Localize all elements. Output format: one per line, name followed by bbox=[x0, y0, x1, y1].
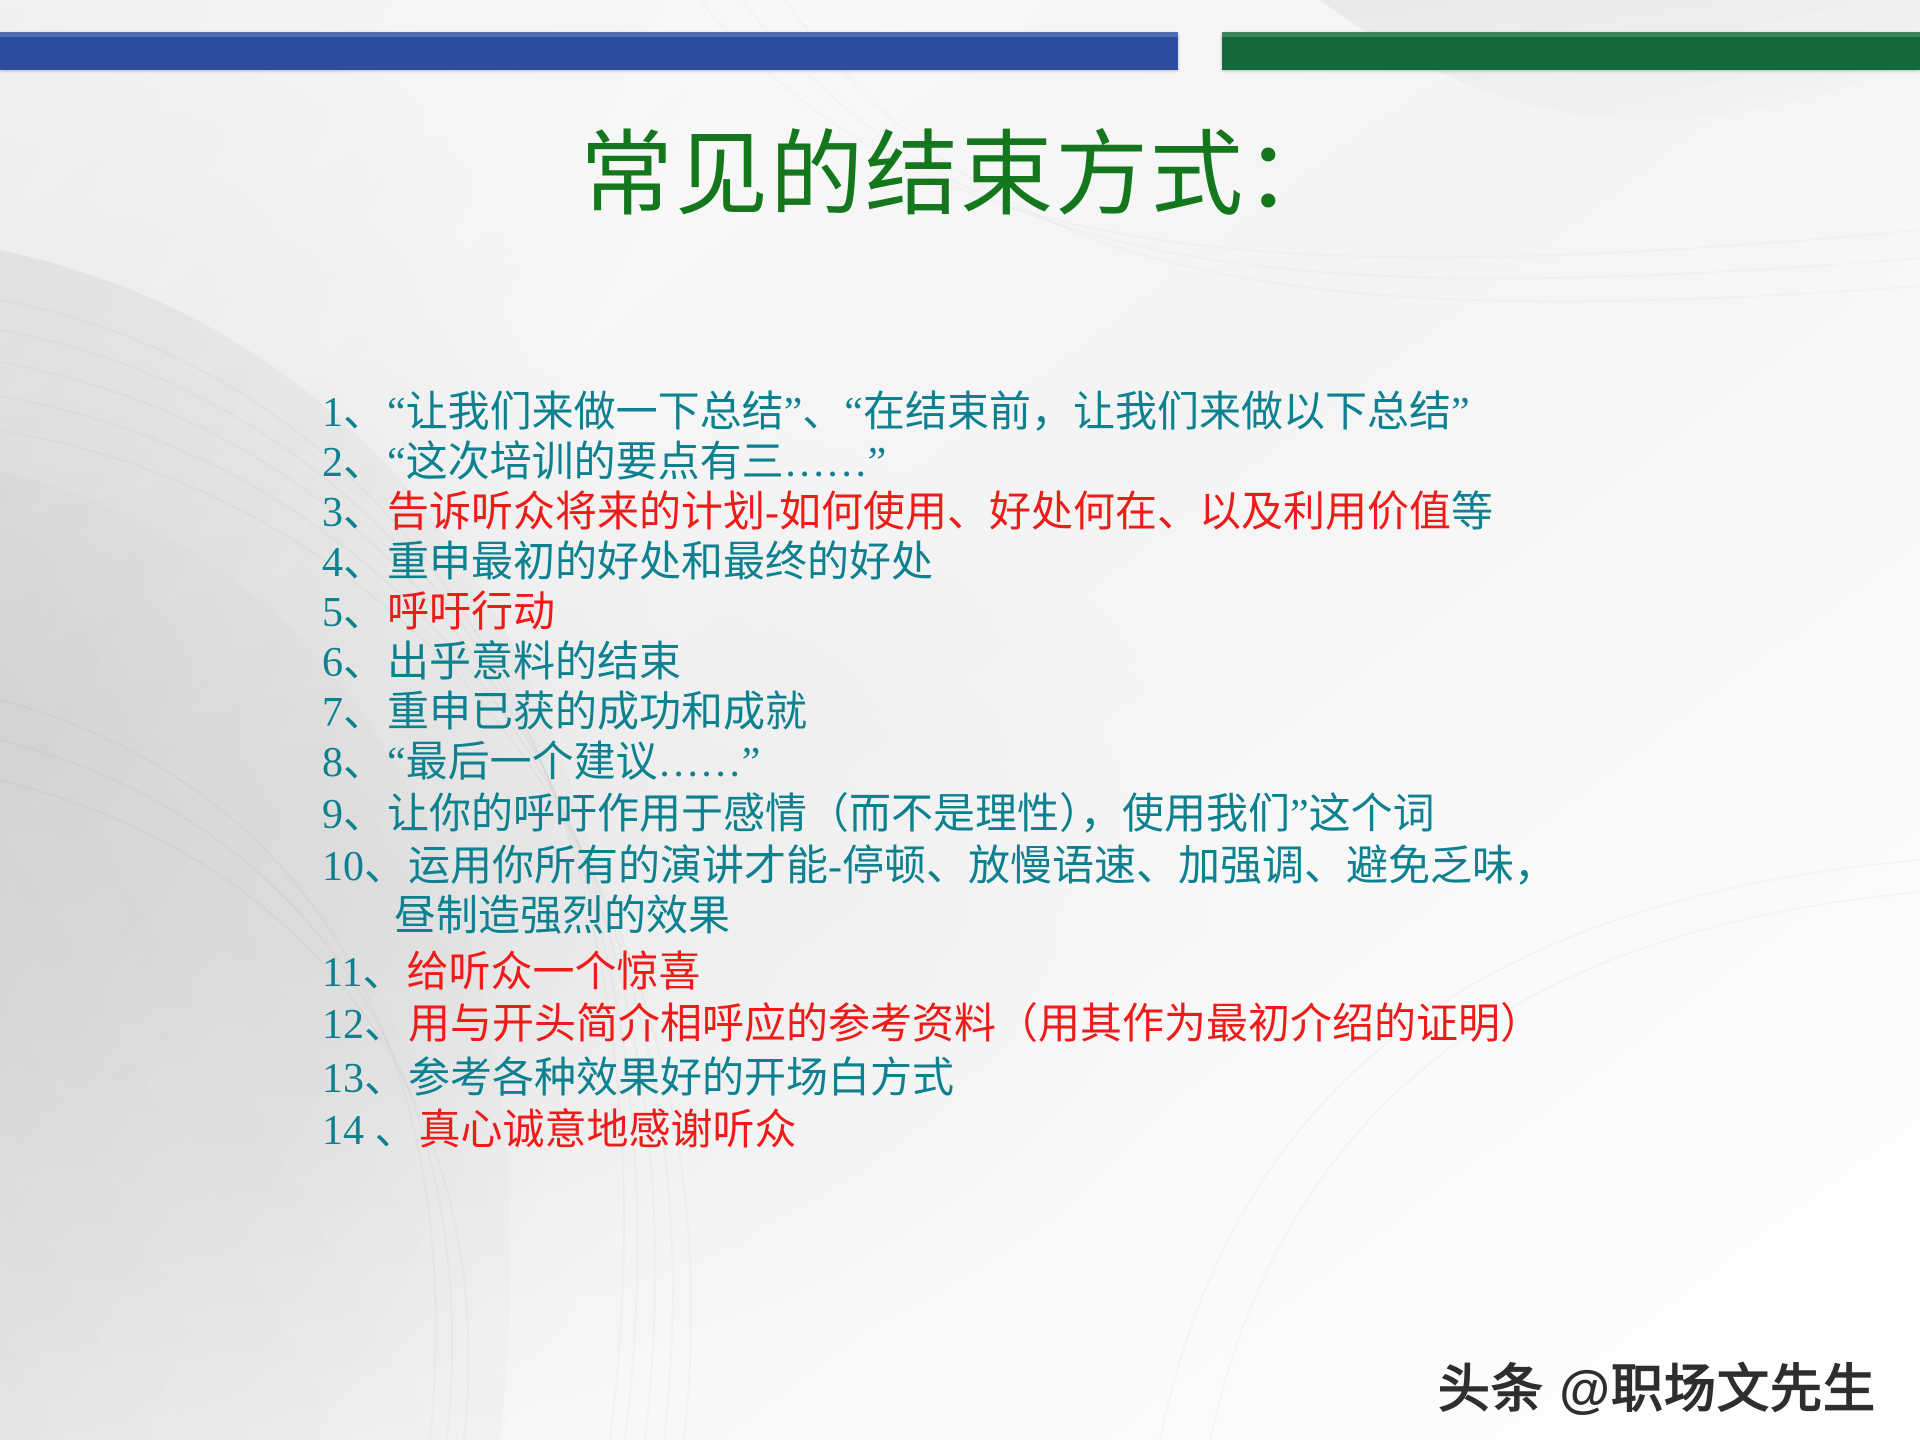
slide-canvas: 常见的结束方式： 1、 “让我们来做一下总结”、“在结束前，让我们来做以下总结”… bbox=[0, 0, 1920, 1440]
list-item-text: 呼吁行动 bbox=[387, 592, 555, 634]
list-item: 10、 运用你所有的演讲才能-停顿、放慢语速、加强调、避免乏味， bbox=[322, 846, 1782, 888]
list-item-text: “最后一个建议……” bbox=[387, 742, 760, 784]
list-item-number: 10、 bbox=[322, 846, 408, 888]
list-item-text: 用与开头简介相呼应的参考资料（用其作为最初介绍的证明） bbox=[408, 1004, 1542, 1046]
list-item-text: 真心诚意地感谢听众 bbox=[419, 1110, 797, 1152]
list-item-text: 出乎意料的结束 bbox=[387, 642, 681, 684]
list-item-text-continuation: 昼制造强烈的效果 bbox=[394, 896, 1782, 938]
list-item-number: 5、 bbox=[322, 592, 387, 634]
watermark: 头条 @职场文先生 bbox=[1438, 1347, 1876, 1422]
list-item-number: 2、 bbox=[322, 442, 387, 484]
list-item-text: 参考各种效果好的开场白方式 bbox=[408, 1058, 954, 1100]
list-item-number: 1、 bbox=[322, 392, 387, 434]
list-item-number: 13、 bbox=[322, 1058, 408, 1100]
list-item-number: 9、 bbox=[322, 794, 387, 836]
list-item-number: 7、 bbox=[322, 692, 387, 734]
list-item-text: 重申已获的成功和成就 bbox=[387, 692, 807, 734]
list-item-number: 8、 bbox=[322, 742, 387, 784]
list-item-text: 让你的呼吁作用于感情（而不是理性），使用我们”这个词 bbox=[387, 794, 1435, 836]
list-item: 1、 “让我们来做一下总结”、“在结束前，让我们来做以下总结” bbox=[322, 392, 1782, 434]
slide-title: 常见的结束方式： bbox=[0, 128, 1920, 226]
list-item-number: 3、 bbox=[322, 492, 387, 534]
list-item: 4、 重申最初的好处和最终的好处 bbox=[322, 542, 1782, 584]
list-item-text: 运用你所有的演讲才能-停顿、放慢语速、加强调、避免乏味， bbox=[408, 846, 1556, 888]
list-item-text: 告诉听众将来的计划-如何使用、好处何在、以及利用价值 bbox=[387, 492, 1451, 534]
list-item: 8、 “最后一个建议……” bbox=[322, 742, 1782, 784]
list-item-number: 12、 bbox=[322, 1004, 408, 1046]
list-item: 14 、 真心诚意地感谢听众 bbox=[322, 1110, 1782, 1152]
ending-methods-list: 1、 “让我们来做一下总结”、“在结束前，让我们来做以下总结” 2、 “这次培训… bbox=[322, 392, 1782, 1160]
list-item: 3、 告诉听众将来的计划-如何使用、好处何在、以及利用价值 等 bbox=[322, 492, 1782, 534]
list-item-number: 14 、 bbox=[322, 1110, 419, 1152]
top-bar-blue bbox=[0, 32, 1178, 70]
list-item: 7、 重申已获的成功和成就 bbox=[322, 692, 1782, 734]
list-item-number: 4、 bbox=[322, 542, 387, 584]
list-item: 12、 用与开头简介相呼应的参考资料（用其作为最初介绍的证明） bbox=[322, 1004, 1782, 1046]
list-item: 9、 让你的呼吁作用于感情（而不是理性），使用我们”这个词 bbox=[322, 794, 1782, 836]
list-item-text: “让我们来做一下总结”、“在结束前，让我们来做以下总结” bbox=[387, 392, 1470, 434]
list-item: 5、 呼吁行动 bbox=[322, 592, 1782, 634]
list-item-number: 11、 bbox=[322, 952, 406, 994]
list-item: 11、 给听众一个惊喜 bbox=[322, 952, 1782, 994]
top-bar-green bbox=[1222, 32, 1920, 70]
top-bars bbox=[0, 32, 1920, 70]
list-item: 13、 参考各种效果好的开场白方式 bbox=[322, 1058, 1782, 1100]
list-item-number: 6、 bbox=[322, 642, 387, 684]
list-item-text-tail: 等 bbox=[1451, 492, 1493, 534]
list-item: 6、 出乎意料的结束 bbox=[322, 642, 1782, 684]
list-item-text: 给听众一个惊喜 bbox=[406, 952, 700, 994]
list-item-text: 重申最初的好处和最终的好处 bbox=[387, 542, 933, 584]
list-item-text: “这次培训的要点有三……” bbox=[387, 442, 886, 484]
list-item: 2、 “这次培训的要点有三……” bbox=[322, 442, 1782, 484]
